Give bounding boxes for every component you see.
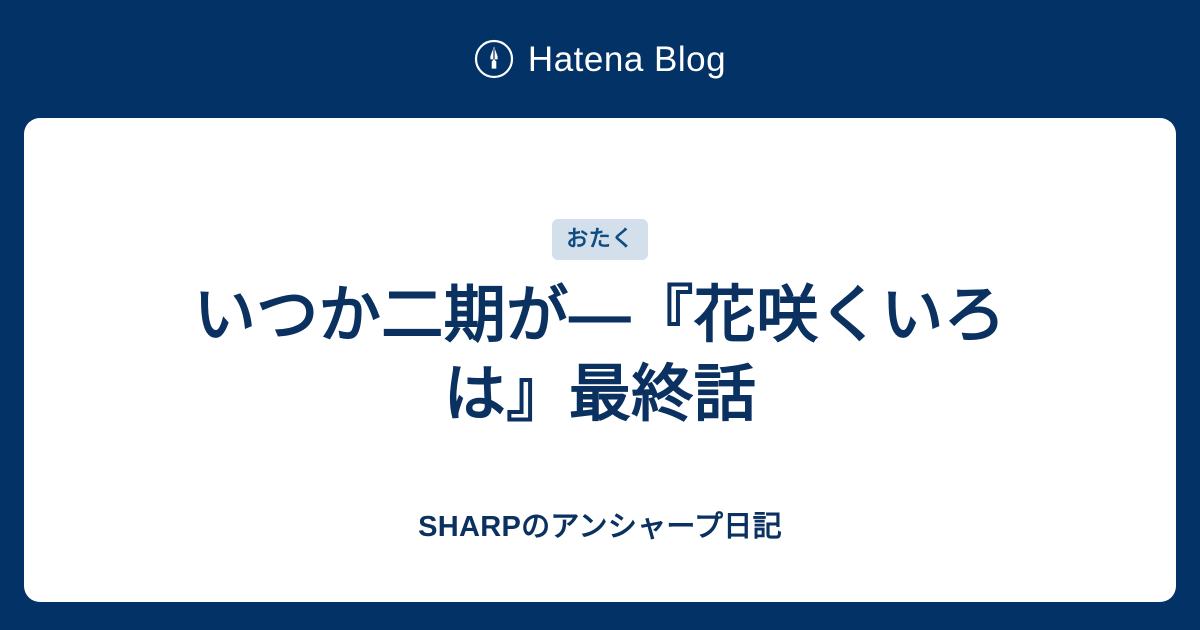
entry-title: いつか二期が―『花咲くいろは』最終話: [180, 276, 1020, 435]
blog-name: SHARPのアンシャープ日記: [24, 510, 1176, 545]
brand-header: Hatena Blog: [0, 0, 1200, 118]
entry-card: おたく いつか二期が―『花咲くいろは』最終話 SHARPのアンシャープ日記: [24, 118, 1176, 602]
ogp-card: Hatena Blog おたく いつか二期が―『花咲くいろは』最終話 SHARP…: [0, 0, 1200, 630]
hatena-blog-wordmark: Hatena Blog: [528, 42, 726, 77]
category-badge[interactable]: おたく: [552, 219, 648, 260]
hatena-pen-nib-icon: [474, 39, 514, 79]
